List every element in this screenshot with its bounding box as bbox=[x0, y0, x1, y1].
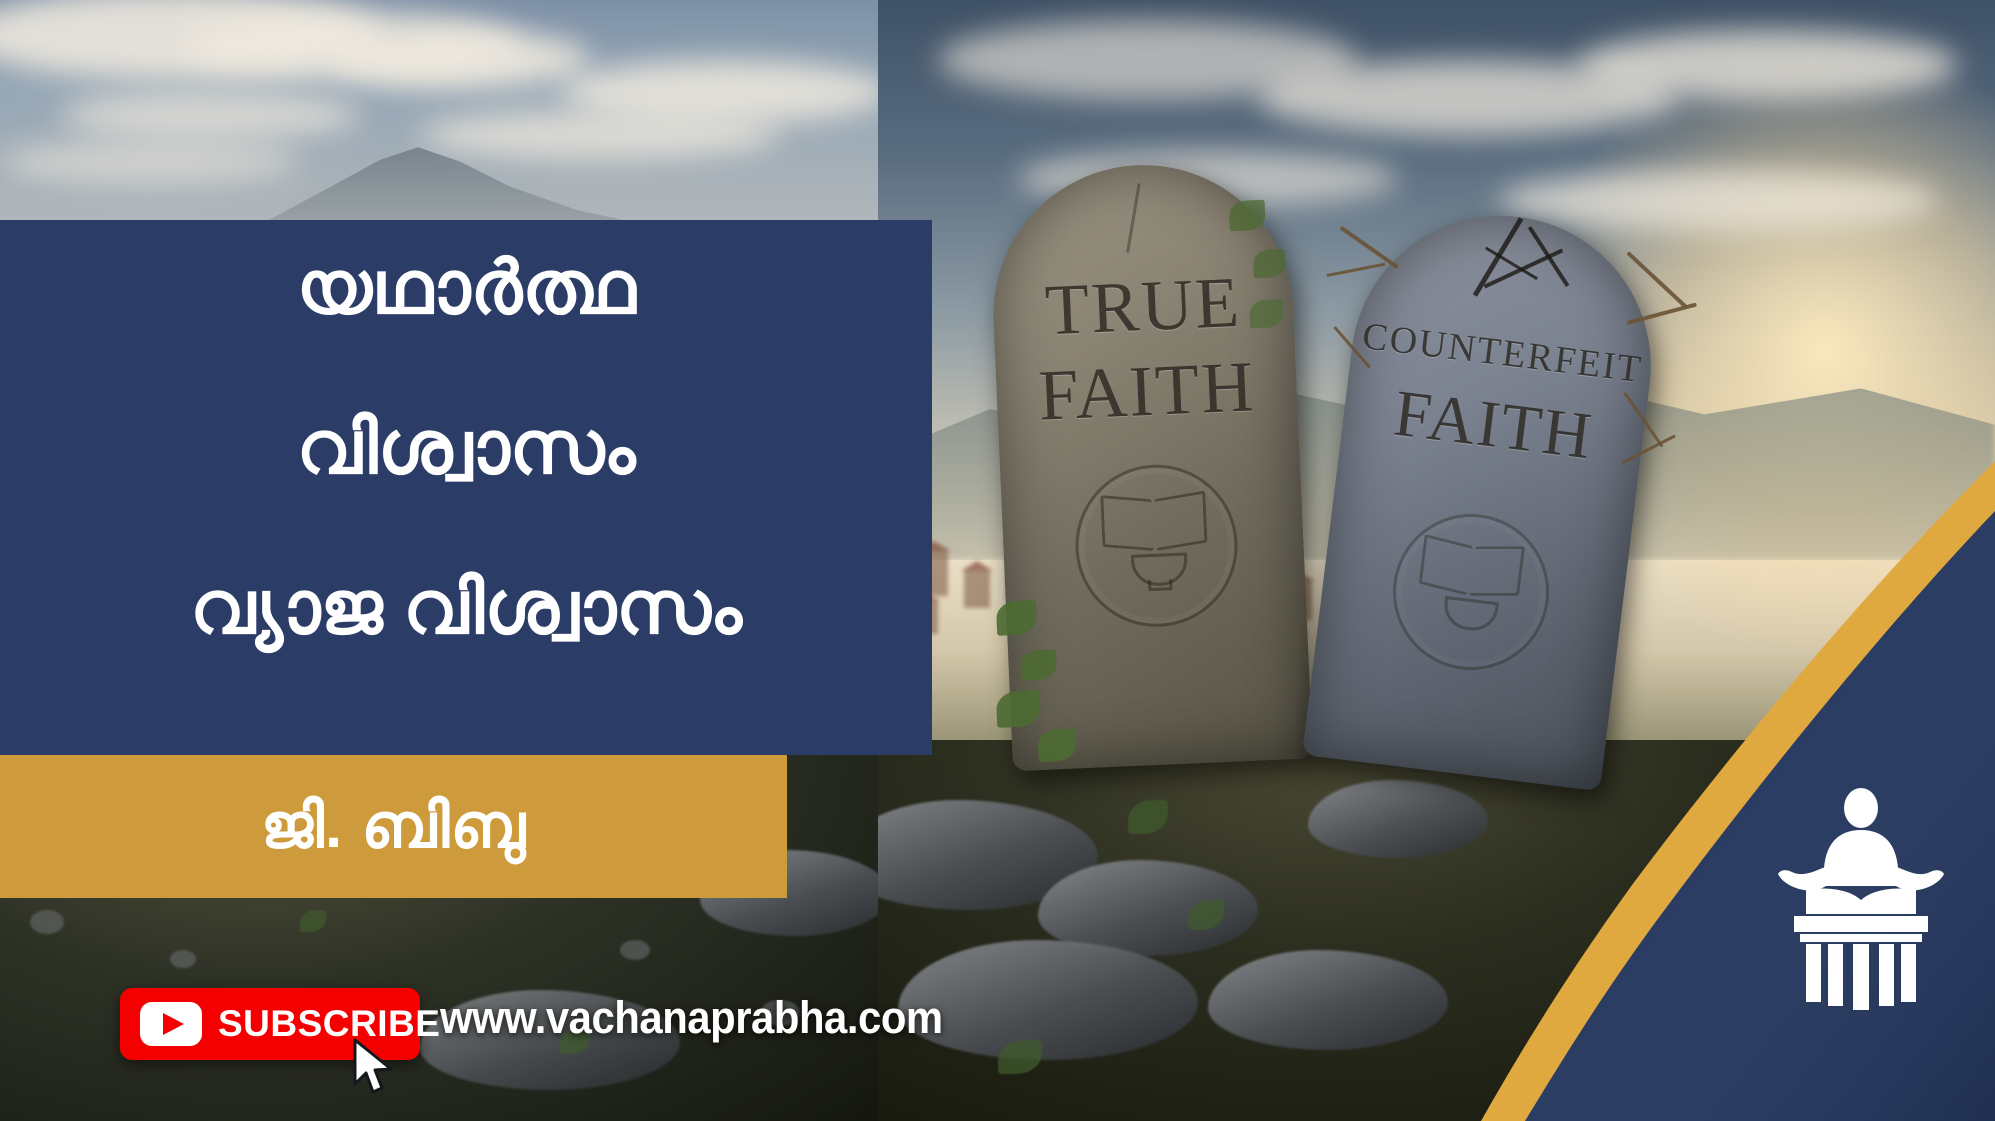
title-panel: യഥാർത്ഥ വിശ്വാസം വ്യാജ വിശ്വാസം bbox=[0, 220, 932, 755]
logo-right-arm bbox=[1890, 866, 1944, 891]
village-house bbox=[964, 570, 990, 608]
logo-flute bbox=[1828, 944, 1843, 1006]
logo-pulpit-lip bbox=[1800, 934, 1922, 942]
cloud-shape bbox=[330, 30, 590, 88]
cloud-shape bbox=[420, 110, 780, 160]
cloud-shape bbox=[1578, 30, 1958, 100]
pebble-shape bbox=[170, 950, 196, 968]
book-left-page bbox=[1100, 495, 1153, 551]
book-right-page bbox=[1154, 490, 1207, 550]
book-left-page bbox=[1419, 534, 1473, 596]
author-band: ജി. ബിബു bbox=[0, 755, 787, 898]
logo-flute bbox=[1901, 944, 1916, 1002]
cloud-shape bbox=[60, 90, 360, 140]
oil-lamp-body bbox=[1442, 596, 1499, 633]
subscribe-label: SUBSCRIBE bbox=[218, 1003, 440, 1045]
thumbnail-canvas: TRUE FAITH COUNTERFEIT FAITH bbox=[0, 0, 1995, 1121]
pebble-shape bbox=[620, 940, 650, 960]
ivy-leaf bbox=[996, 600, 1037, 636]
logo-open-book bbox=[1806, 888, 1916, 914]
preacher-pulpit-logo bbox=[1766, 782, 1956, 1012]
leaf-shape bbox=[1128, 800, 1168, 834]
cloud-shape bbox=[0, 140, 300, 184]
cloud-shape bbox=[1498, 170, 1938, 232]
gravestone-true-faith: TRUE FAITH bbox=[987, 159, 1313, 772]
logo-left-arm bbox=[1778, 866, 1832, 891]
leaf-shape bbox=[998, 1040, 1042, 1074]
leaf-shape bbox=[300, 910, 326, 932]
oil-lamp-base bbox=[1148, 579, 1172, 591]
gravestone-line-2: FAITH bbox=[995, 344, 1298, 440]
title-line-3: വ്യാജ വിശ്വാസം bbox=[0, 568, 932, 648]
title-line-1: യഥാർത്ഥ bbox=[0, 248, 932, 328]
youtube-play-icon bbox=[140, 1002, 202, 1046]
website-url: www.vachanaprabha.com bbox=[440, 992, 943, 1044]
author-name: ജി. ബിബു bbox=[261, 791, 526, 863]
logo-flute bbox=[1853, 944, 1869, 1010]
ivy-leaf bbox=[1037, 729, 1076, 763]
open-book-and-oil-lamp-icon bbox=[1072, 461, 1241, 630]
book-right-page bbox=[1470, 546, 1525, 596]
open-book-and-oil-lamp-icon bbox=[1384, 505, 1558, 679]
logo-flute bbox=[1879, 944, 1894, 1006]
logo-head bbox=[1844, 788, 1878, 828]
logo-torso bbox=[1824, 830, 1898, 886]
logo-flute bbox=[1806, 944, 1821, 1002]
ivy-leaf bbox=[1020, 649, 1057, 681]
rock-shape bbox=[1208, 950, 1448, 1050]
ivy-leaf bbox=[1229, 200, 1266, 232]
logo-pulpit-cap bbox=[1794, 916, 1928, 932]
ivy-leaf bbox=[996, 690, 1042, 728]
crack-line bbox=[1126, 183, 1141, 253]
gravestone-line-1: TRUE bbox=[991, 259, 1294, 355]
rock-shape bbox=[1308, 780, 1488, 858]
pebble-shape bbox=[30, 910, 64, 934]
title-line-2: വിശ്വാസം bbox=[0, 408, 932, 488]
mouse-arrow-cursor bbox=[352, 1038, 398, 1098]
